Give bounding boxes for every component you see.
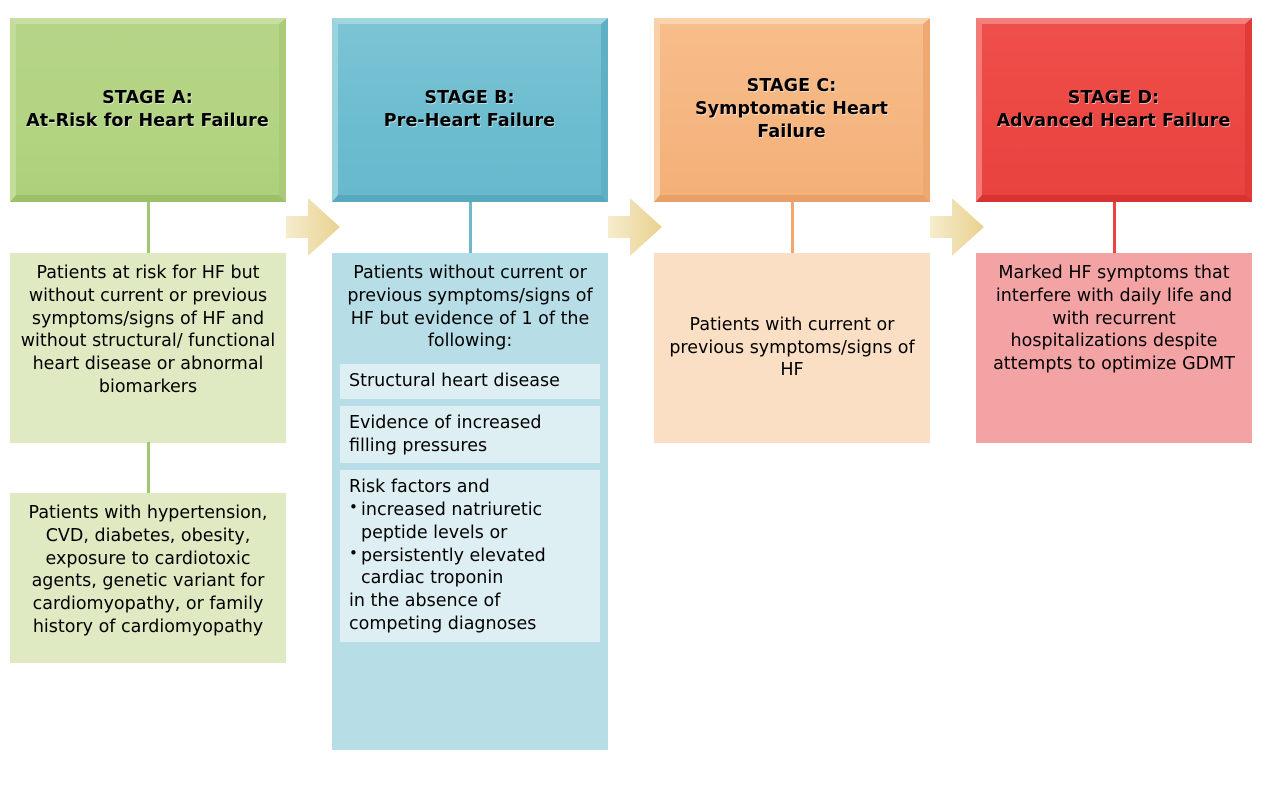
- stage-header-c[interactable]: STAGE C: Symptomatic Heart Failure: [654, 18, 930, 202]
- stage-b-risk-factors-lead: Risk factors and: [349, 476, 591, 499]
- heart-failure-stages-diagram: STAGE A: At-Risk for Heart Failure Patie…: [0, 0, 1273, 785]
- stage-header-c-line1: STAGE C:: [747, 76, 837, 96]
- bullet-2-line2: cardiac troponin: [361, 567, 591, 590]
- connector-line-c-1: [791, 202, 794, 254]
- stage-b-risk-factors-tail-line1: in the absence of: [349, 590, 591, 613]
- stage-header-a-line2: At-Risk for Heart Failure: [26, 111, 269, 131]
- stage-d-content-box-1: Marked HF symptoms that interfere with d…: [976, 253, 1252, 443]
- stage-b-item-structural-heart-disease: Structural heart disease: [340, 364, 600, 399]
- stage-header-d-title: STAGE D: Advanced Heart Failure: [997, 87, 1231, 133]
- stage-b-item-risk-factors: Risk factors and increased natriuretic p…: [340, 470, 600, 641]
- connector-line-b-1: [469, 202, 472, 254]
- stage-header-b[interactable]: STAGE B: Pre-Heart Failure: [332, 18, 608, 202]
- bullet-1-line1: increased natriuretic: [361, 500, 542, 520]
- bullet-1-line2: peptide levels or: [361, 522, 591, 545]
- stage-b-risk-factors-list: increased natriuretic peptide levels or …: [349, 499, 591, 590]
- connector-line-a-2: [147, 442, 150, 494]
- stage-column-d: STAGE D: Advanced Heart Failure Marked H…: [976, 0, 1252, 785]
- stage-b-risk-factors-tail-line2: competing diagnoses: [349, 613, 591, 636]
- list-item: increased natriuretic peptide levels or: [349, 499, 591, 545]
- stage-header-d-line1: STAGE D:: [1068, 88, 1159, 108]
- stage-header-a-line1: STAGE A:: [102, 88, 193, 108]
- stage-header-b-line1: STAGE B:: [424, 88, 514, 108]
- stage-header-b-line2: Pre-Heart Failure: [384, 111, 555, 131]
- stage-b-item-filling-pressures: Evidence of increased filling pressures: [340, 406, 600, 464]
- stage-column-a: STAGE A: At-Risk for Heart Failure Patie…: [10, 0, 286, 785]
- stage-header-b-title: STAGE B: Pre-Heart Failure: [384, 87, 555, 133]
- bullet-2-line1: persistently elevated: [361, 546, 546, 566]
- connector-line-d-1: [1113, 202, 1116, 254]
- stage-header-c-title: STAGE C: Symptomatic Heart Failure: [660, 75, 923, 143]
- stage-column-b: STAGE B: Pre-Heart Failure Patients with…: [332, 0, 608, 785]
- stage-a-content-box-2: Patients with hypertension, CVD, diabete…: [10, 493, 286, 663]
- stage-column-c: STAGE C: Symptomatic Heart Failure Patie…: [654, 0, 930, 785]
- list-item: persistently elevated cardiac troponin: [349, 545, 591, 591]
- stage-c-content-box-1: Patients with current or previous sympto…: [654, 253, 930, 443]
- stage-header-c-line2: Symptomatic Heart Failure: [695, 99, 888, 142]
- stage-c-content-text: Patients with current or previous sympto…: [664, 314, 920, 382]
- stage-header-a[interactable]: STAGE A: At-Risk for Heart Failure: [10, 18, 286, 202]
- stage-header-a-title: STAGE A: At-Risk for Heart Failure: [26, 87, 269, 133]
- connector-line-a-1: [147, 202, 150, 254]
- stage-header-d-line2: Advanced Heart Failure: [997, 111, 1231, 131]
- stage-b-intro-text: Patients without current or previous sym…: [332, 253, 608, 364]
- stage-b-panel: Patients without current or previous sym…: [332, 253, 608, 750]
- stage-header-d[interactable]: STAGE D: Advanced Heart Failure: [976, 18, 1252, 202]
- stage-a-content-box-1: Patients at risk for HF but without curr…: [10, 253, 286, 443]
